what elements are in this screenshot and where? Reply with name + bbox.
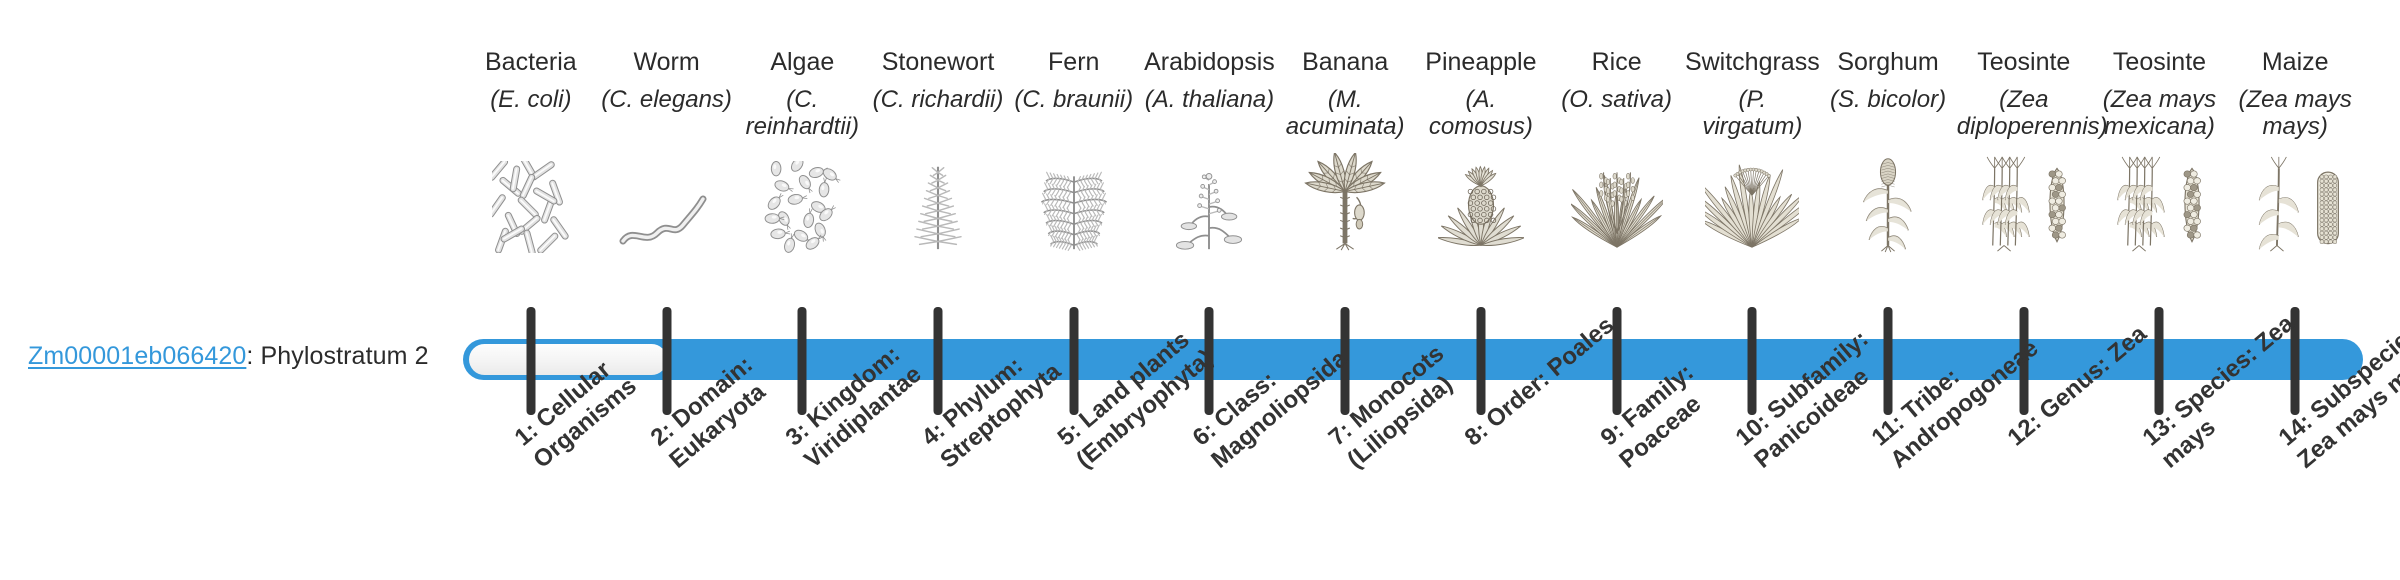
phylostratum-value-text: Phylostratum 2 [260,342,428,370]
gene-phylostratum-label: Zm00001eb066420: Phylostratum 2 [28,342,429,371]
phylostratigraphy-timeline: Zm00001eb066420: Phylostratum 2 Bacteria… [0,0,2400,580]
gene-id-link[interactable]: Zm00001eb066420 [28,342,246,370]
stratum-rank-labels: 1: Cellular Organisms2: Domain: Eukaryot… [463,0,2363,580]
gene-label-separator: : [246,342,260,370]
